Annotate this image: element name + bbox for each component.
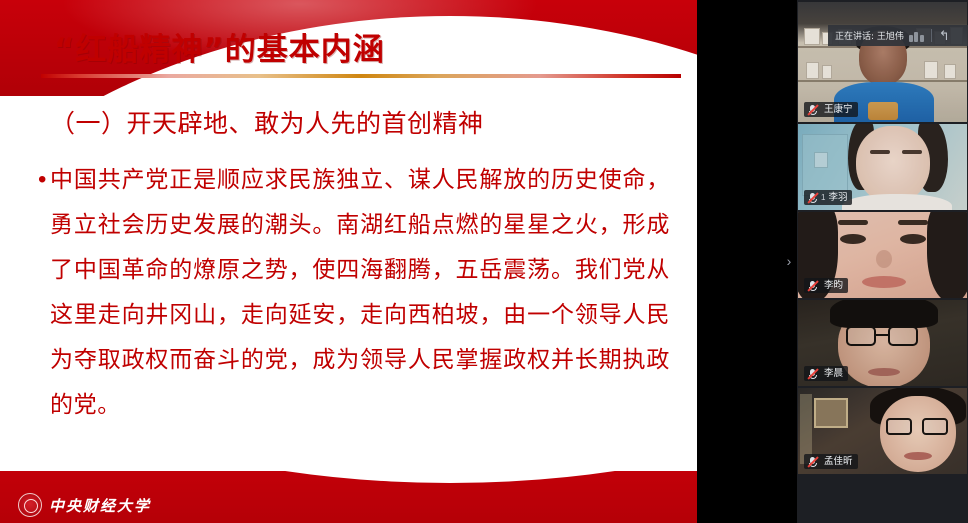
participant-tile[interactable]: 王康宁 [798, 2, 967, 122]
university-logo: 中央财经大学 [18, 493, 151, 517]
chevron-right-icon[interactable]: › [782, 248, 796, 274]
mic-muted-icon [807, 368, 818, 380]
page-title: “红船精神”的基本内涵 [54, 24, 385, 69]
popout-arrow-icon[interactable]: ↰ [939, 29, 950, 42]
active-speaker-label: 正在讲话: 王旭伟 [835, 29, 904, 42]
mic-muted-icon [807, 280, 818, 292]
bullet-icon: • [38, 158, 50, 202]
participant-tile[interactable]: 1 李羽 [798, 124, 967, 210]
slide-body: • 中国共产党正是顺应求民族独立、谋人民解放的历史使命，勇立社会历史发展的潮头。… [38, 158, 670, 428]
mic-muted-icon [807, 456, 818, 468]
title-divider [41, 74, 681, 78]
university-name: 中央财经大学 [49, 495, 151, 516]
active-speaker-bar: 正在讲话: 王旭伟 ↰ [828, 25, 968, 46]
slide-subheading: （一）开天辟地、敢为人先的首创精神 [50, 104, 484, 140]
participant-name-badge: 孟佳昕 [804, 454, 858, 469]
participant-name: 李晨 [824, 366, 843, 381]
participant-name: 孟佳昕 [824, 454, 853, 469]
participant-video-strip: 王康宁 1 李羽 [797, 0, 968, 523]
participant-name-badge: 李晨 [804, 366, 848, 381]
shared-slide: “红船精神”的基本内涵 （一）开天辟地、敢为人先的首创精神 • 中国共产党正是顺… [0, 0, 697, 523]
participant-name: 王康宁 [824, 102, 853, 117]
slide-footer-band: 中央财经大学 [0, 471, 697, 523]
mic-muted-icon [807, 192, 818, 204]
university-seal-icon [18, 493, 42, 517]
body-paragraph: 中国共产党正是顺应求民族独立、谋人民解放的历史使命，勇立社会历史发展的潮头。南湖… [50, 158, 670, 428]
participant-name: 李昀 [824, 278, 843, 293]
participant-name-badge: 王康宁 [804, 102, 858, 117]
participant-index: 1 [821, 190, 825, 205]
participant-tile[interactable]: 李昀 [798, 212, 967, 298]
participant-tile[interactable]: 李晨 [798, 300, 967, 386]
volume-bars-icon [909, 30, 924, 42]
meeting-screen-share-window: “红船精神”的基本内涵 （一）开天辟地、敢为人先的首创精神 • 中国共产党正是顺… [0, 0, 968, 523]
toolbar-separator [931, 29, 932, 42]
mic-muted-icon [807, 104, 818, 116]
participant-name: 李羽 [828, 190, 847, 205]
participant-name-badge: 1 李羽 [804, 190, 852, 205]
participant-name-badge: 李昀 [804, 278, 848, 293]
participant-tile[interactable]: 孟佳昕 [798, 388, 967, 474]
bullet-row: • 中国共产党正是顺应求民族独立、谋人民解放的历史使命，勇立社会历史发展的潮头。… [38, 158, 670, 428]
